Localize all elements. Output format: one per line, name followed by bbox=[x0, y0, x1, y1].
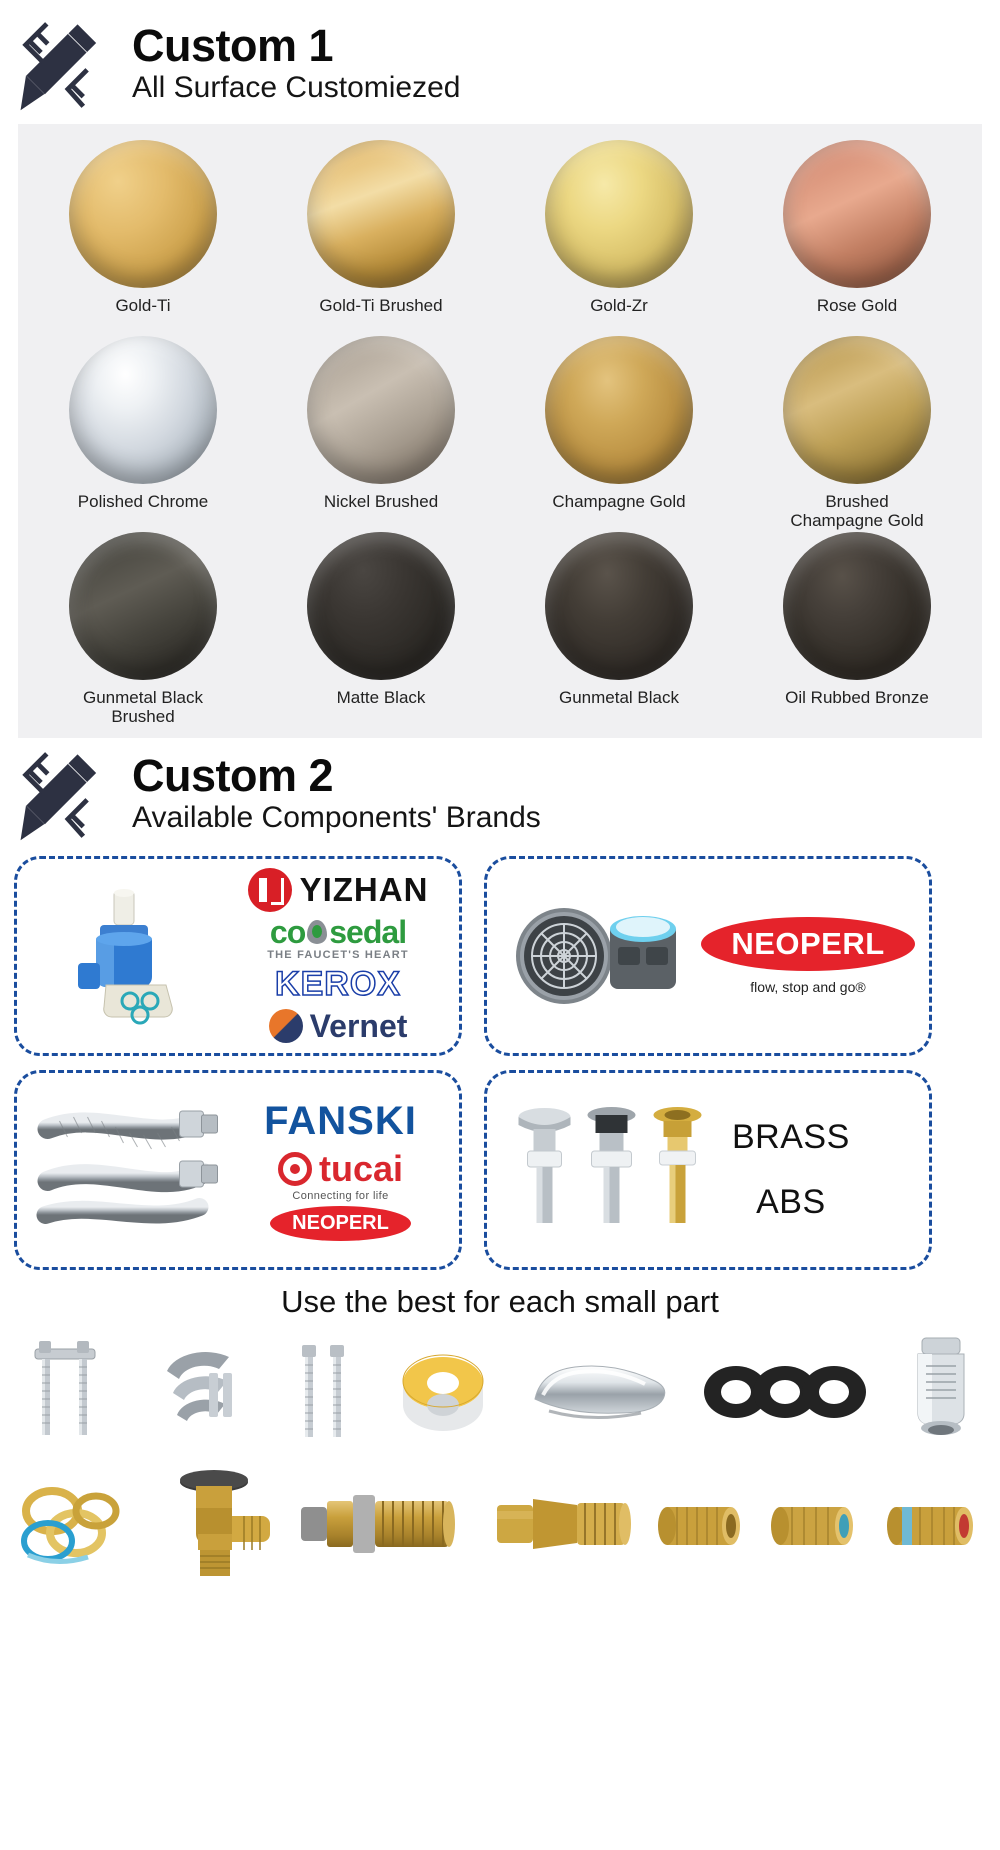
brand-name: YIZHAN bbox=[300, 871, 429, 909]
brand-name: tucai bbox=[319, 1148, 403, 1190]
mounting-bolts-part bbox=[14, 1337, 126, 1447]
brass-ring-1-part bbox=[649, 1471, 749, 1581]
brass-ring-3-part bbox=[876, 1471, 986, 1581]
yizhan-mark-icon bbox=[248, 868, 292, 912]
brand-logo-list: YIZHAN co sedal THE FAUCET'S HEART KEROX… bbox=[227, 868, 449, 1045]
ptfe-tape-part bbox=[387, 1337, 499, 1447]
swatch-circle bbox=[545, 532, 693, 680]
tucai-ring-icon bbox=[278, 1152, 312, 1186]
swatch-label: Brushed Champagne Gold bbox=[790, 492, 923, 532]
swatch-circle bbox=[783, 532, 931, 680]
cosedal-wordmark-suffix: sedal bbox=[329, 916, 406, 948]
swatch-circle bbox=[307, 140, 455, 288]
finish-swatch-champagne-gold[interactable]: Champagne Gold bbox=[500, 336, 738, 532]
finish-swatch-nickel-brushed[interactable]: Nickel Brushed bbox=[262, 336, 500, 532]
brand-name: Vernet bbox=[310, 1008, 408, 1045]
brand-logo-list: FANSKI tucai Connecting for life NEOPERL bbox=[232, 1099, 449, 1241]
brand-tagline: flow, stop and go® bbox=[701, 979, 914, 995]
brand-tagline: Connecting for life bbox=[278, 1190, 403, 1202]
material-brass: BRASS bbox=[732, 1118, 850, 1157]
swatch-label: Gold-Zr bbox=[590, 296, 648, 336]
swatch-label: Gunmetal Black bbox=[559, 688, 679, 728]
swatch-circle bbox=[783, 140, 931, 288]
finish-swatch-panel: Gold-Ti Gold-Ti Brushed Gold-Zr Rose Gol… bbox=[18, 124, 982, 738]
brand-card-grid: YIZHAN co sedal THE FAUCET'S HEART KEROX… bbox=[0, 850, 1000, 1270]
swatch-circle bbox=[545, 140, 693, 288]
brand-logo-neoperl: NEOPERL bbox=[270, 1206, 411, 1241]
rubber-gaskets-part bbox=[700, 1337, 870, 1447]
finish-swatch-brushed-champagne-gold[interactable]: Brushed Champagne Gold bbox=[738, 336, 976, 532]
brand-logo-vernet: Vernet bbox=[269, 1008, 408, 1045]
faucet-aerator-image bbox=[497, 867, 697, 1045]
swatch-circle bbox=[783, 336, 931, 484]
parts-row-1 bbox=[0, 1328, 1000, 1456]
swatch-label: Nickel Brushed bbox=[324, 492, 438, 532]
swatch-label: Rose Gold bbox=[817, 296, 897, 336]
swatch-circle bbox=[69, 336, 217, 484]
page-title: Custom 1 bbox=[132, 22, 460, 69]
pencil-edit-icon bbox=[14, 18, 118, 114]
finish-swatch-gold-ti[interactable]: Gold-Ti bbox=[24, 140, 262, 336]
pop-up-drain-image bbox=[497, 1081, 732, 1259]
section-subtitle: Available Components' Brands bbox=[132, 801, 541, 836]
brand-name: NEOPERL bbox=[731, 926, 884, 961]
brand-logo-neoperl: NEOPERL flow, stop and go® bbox=[701, 917, 914, 995]
brand-logo-tucai: tucai Connecting for life bbox=[278, 1148, 403, 1202]
cosedal-wordmark-prefix: co bbox=[270, 916, 305, 948]
faucet-handle-part bbox=[525, 1337, 675, 1447]
finish-swatch-oil-rubbed-bronze[interactable]: Oil Rubbed Bronze bbox=[738, 532, 976, 728]
parts-row-2 bbox=[0, 1456, 1000, 1590]
braided-hose-image bbox=[27, 1081, 232, 1259]
screws-part bbox=[289, 1337, 361, 1447]
page-subtitle: All Surface Customiezed bbox=[132, 71, 460, 106]
section-title: Custom 2 bbox=[132, 752, 541, 799]
swatch-circle bbox=[307, 336, 455, 484]
swatch-circle bbox=[307, 532, 455, 680]
material-options: BRASS ABS bbox=[732, 1118, 850, 1222]
brass-ring-2-part bbox=[762, 1471, 862, 1581]
water-drop-icon bbox=[307, 920, 327, 944]
wrench-tool-part bbox=[152, 1337, 264, 1447]
brand-card-cartridge[interactable]: YIZHAN co sedal THE FAUCET'S HEART KEROX… bbox=[14, 856, 462, 1056]
brand-logo-cosedal: co sedal THE FAUCET'S HEART bbox=[267, 916, 409, 961]
pencil-edit-icon bbox=[14, 748, 118, 844]
neoperl-pill: NEOPERL bbox=[701, 917, 914, 971]
brass-elbow-part bbox=[148, 1466, 278, 1586]
swatch-label: Matte Black bbox=[337, 688, 426, 728]
swatch-label: Gold-Ti Brushed bbox=[319, 296, 442, 336]
finish-swatch-gold-ti-brushed[interactable]: Gold-Ti Brushed bbox=[262, 140, 500, 336]
swatch-label: Gunmetal Black Brushed bbox=[83, 688, 203, 728]
custom-2-header: Custom 2 Available Components' Brands bbox=[0, 738, 1000, 850]
brand-logo-yizhan: YIZHAN bbox=[248, 868, 429, 912]
brand-card-hose[interactable]: FANSKI tucai Connecting for life NEOPERL bbox=[14, 1070, 462, 1270]
brand-logo-kerox: KEROX bbox=[275, 965, 401, 1004]
washers-set-part bbox=[14, 1471, 134, 1581]
finish-row: Polished Chrome Nickel Brushed Champagne… bbox=[24, 336, 976, 532]
finish-swatch-gunmetal-black-brushed[interactable]: Gunmetal Black Brushed bbox=[24, 532, 262, 728]
brand-name: NEOPERL bbox=[292, 1212, 389, 1234]
finish-swatch-polished-chrome[interactable]: Polished Chrome bbox=[24, 336, 262, 532]
use-best-caption: Use the best for each small part bbox=[0, 1270, 1000, 1328]
swatch-label: Gold-Ti bbox=[115, 296, 170, 336]
swatch-circle bbox=[69, 140, 217, 288]
brand-logo-fanski: FANSKI bbox=[264, 1099, 417, 1144]
swatch-label: Oil Rubbed Bronze bbox=[785, 688, 929, 728]
brand-tagline: THE FAUCET'S HEART bbox=[267, 950, 409, 961]
vernet-mark-icon bbox=[269, 1009, 303, 1043]
finish-row: Gunmetal Black Brushed Matte Black Gunme… bbox=[24, 532, 976, 728]
custom-1-header: Custom 1 All Surface Customiezed bbox=[0, 0, 1000, 120]
brand-card-drain[interactable]: BRASS ABS bbox=[484, 1070, 932, 1270]
finish-swatch-matte-black[interactable]: Matte Black bbox=[262, 532, 500, 728]
material-abs: ABS bbox=[756, 1183, 826, 1222]
finish-row: Gold-Ti Gold-Ti Brushed Gold-Zr Rose Gol… bbox=[24, 140, 976, 336]
finish-swatch-gunmetal-black[interactable]: Gunmetal Black bbox=[500, 532, 738, 728]
swatch-label: Polished Chrome bbox=[78, 492, 208, 532]
ceramic-cartridge-image bbox=[27, 867, 227, 1045]
brass-nipple-part bbox=[485, 1471, 635, 1581]
brand-logo-list: NEOPERL flow, stop and go® bbox=[697, 917, 919, 995]
finish-swatch-rose-gold[interactable]: Rose Gold bbox=[738, 140, 976, 336]
brass-shank-part bbox=[291, 1471, 471, 1581]
brand-card-aerator[interactable]: NEOPERL flow, stop and go® bbox=[484, 856, 932, 1056]
swatch-circle bbox=[69, 532, 217, 680]
aerator-swivel-part bbox=[896, 1332, 986, 1452]
swatch-circle bbox=[545, 336, 693, 484]
swatch-label: Champagne Gold bbox=[552, 492, 685, 532]
finish-swatch-gold-zr[interactable]: Gold-Zr bbox=[500, 140, 738, 336]
